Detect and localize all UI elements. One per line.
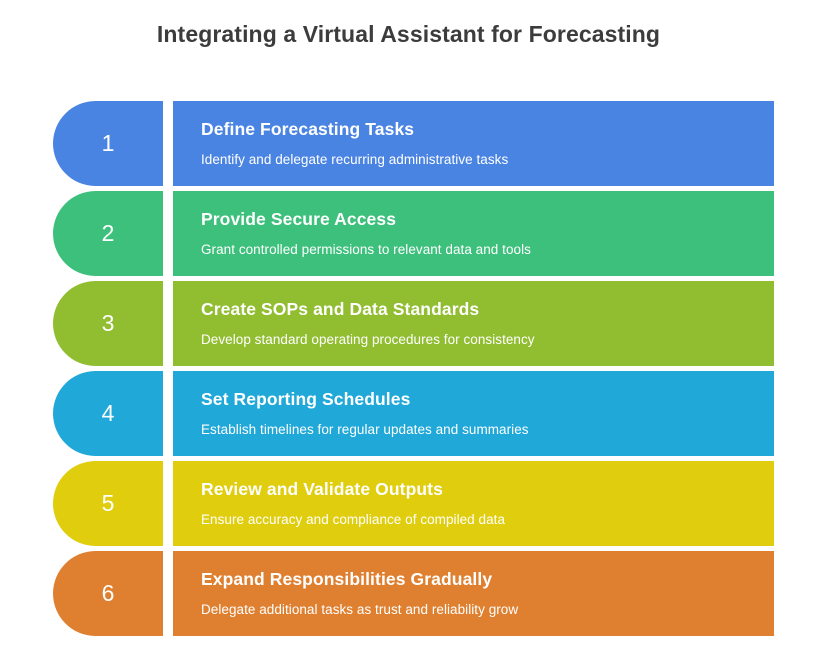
step-description: Establish timelines for regular updates … [201, 422, 754, 439]
step-number-block: 6 [53, 551, 163, 636]
step-number: 3 [102, 312, 115, 335]
step-divider [163, 191, 173, 276]
steps-list: 1 Define Forecasting Tasks Identify and … [53, 101, 774, 641]
step-description: Identify and delegate recurring administ… [201, 152, 754, 169]
step-content: Define Forecasting Tasks Identify and de… [173, 101, 774, 186]
page-title: Integrating a Virtual Assistant for Fore… [0, 21, 817, 48]
step-divider [163, 281, 173, 366]
step-description: Develop standard operating procedures fo… [201, 332, 754, 349]
step-row[interactable]: 6 Expand Responsibilities Gradually Dele… [53, 551, 774, 636]
step-divider [163, 371, 173, 456]
step-divider [163, 101, 173, 186]
step-description: Ensure accuracy and compliance of compil… [201, 512, 754, 529]
step-content: Create SOPs and Data Standards Develop s… [173, 281, 774, 366]
step-number-block: 4 [53, 371, 163, 456]
step-row[interactable]: 3 Create SOPs and Data Standards Develop… [53, 281, 774, 366]
step-number-block: 2 [53, 191, 163, 276]
step-number: 6 [102, 582, 115, 605]
step-content: Set Reporting Schedules Establish timeli… [173, 371, 774, 456]
step-number: 1 [102, 132, 115, 155]
step-row[interactable]: 4 Set Reporting Schedules Establish time… [53, 371, 774, 456]
infographic-root: Integrating a Virtual Assistant for Fore… [0, 0, 817, 669]
step-row[interactable]: 5 Review and Validate Outputs Ensure acc… [53, 461, 774, 546]
step-divider [163, 551, 173, 636]
step-heading: Create SOPs and Data Standards [201, 299, 754, 320]
step-number: 5 [102, 492, 115, 515]
step-divider [163, 461, 173, 546]
step-number: 4 [102, 402, 115, 425]
step-number-block: 1 [53, 101, 163, 186]
step-heading: Provide Secure Access [201, 209, 754, 230]
step-row[interactable]: 1 Define Forecasting Tasks Identify and … [53, 101, 774, 186]
step-row[interactable]: 2 Provide Secure Access Grant controlled… [53, 191, 774, 276]
step-number-block: 3 [53, 281, 163, 366]
step-description: Grant controlled permissions to relevant… [201, 242, 754, 259]
step-content: Expand Responsibilities Gradually Delega… [173, 551, 774, 636]
step-heading: Review and Validate Outputs [201, 479, 754, 500]
step-heading: Expand Responsibilities Gradually [201, 569, 754, 590]
step-content: Provide Secure Access Grant controlled p… [173, 191, 774, 276]
step-heading: Set Reporting Schedules [201, 389, 754, 410]
step-number-block: 5 [53, 461, 163, 546]
step-heading: Define Forecasting Tasks [201, 119, 754, 140]
step-content: Review and Validate Outputs Ensure accur… [173, 461, 774, 546]
step-description: Delegate additional tasks as trust and r… [201, 602, 754, 619]
step-number: 2 [102, 222, 115, 245]
